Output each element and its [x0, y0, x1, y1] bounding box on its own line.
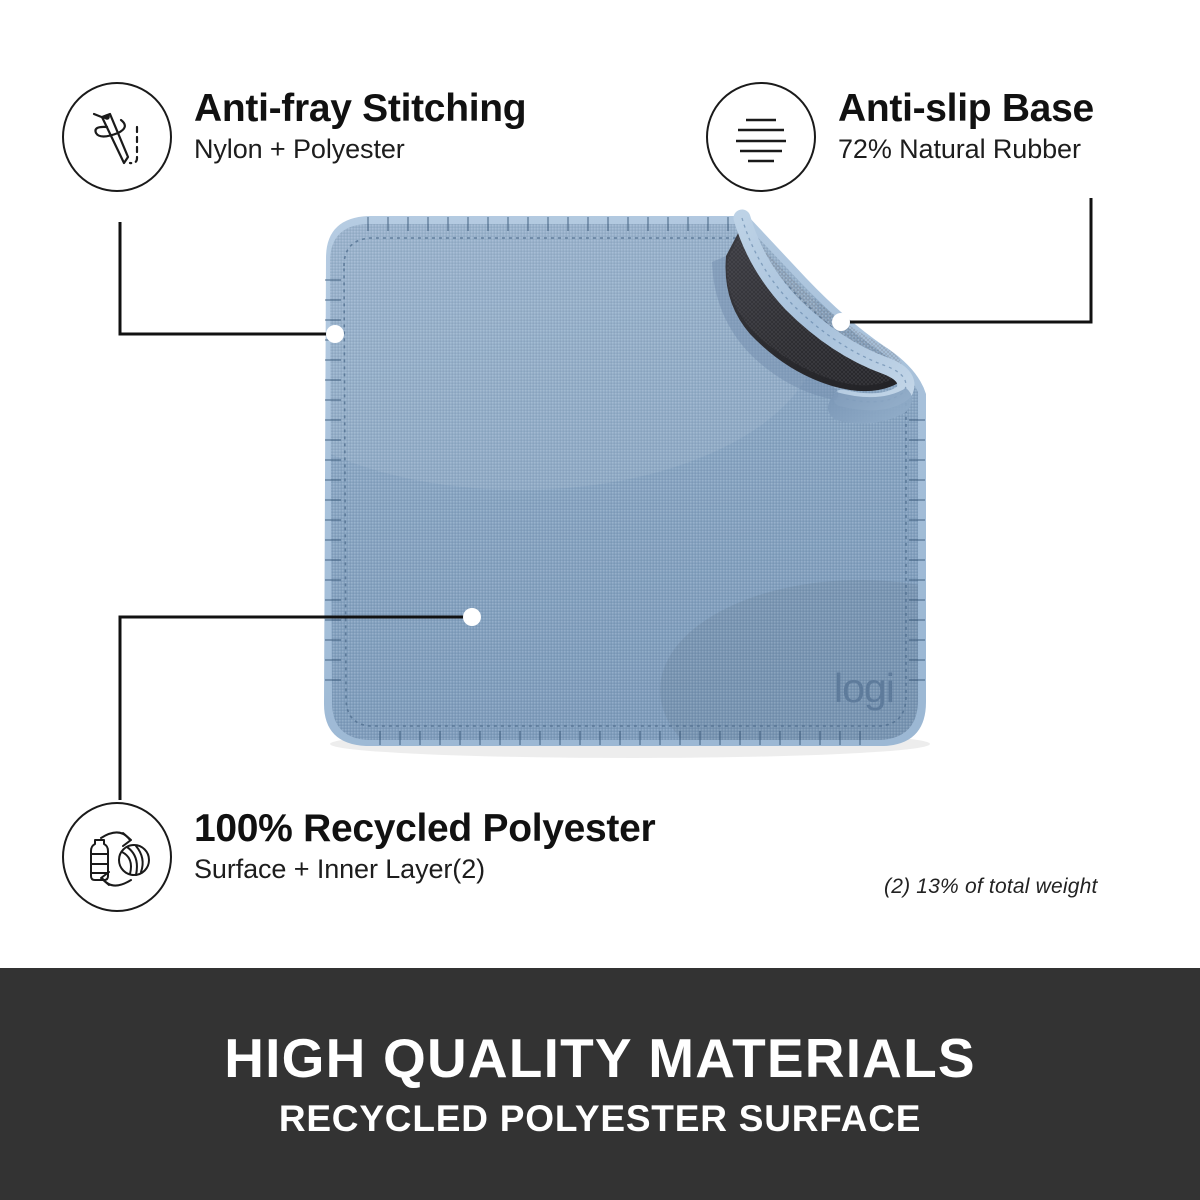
callout-dot-stitching: [326, 325, 344, 343]
infographic-stage: logi: [0, 0, 1200, 1200]
feature-title: Anti-fray Stitching: [194, 88, 526, 129]
footnote-total-weight: (2) 13% of total weight: [884, 875, 1098, 899]
banner-title: HIGH QUALITY MATERIALS: [224, 1028, 976, 1089]
feature-title: 100% Recycled Polyester: [194, 808, 655, 849]
feature-text-block: 100% Recycled Polyester Surface + Inner …: [194, 802, 655, 885]
callout-dot-recycled: [463, 608, 481, 626]
banner-subtitle: RECYCLED POLYESTER SURFACE: [279, 1098, 921, 1140]
leader-line-antislip: [841, 198, 1091, 322]
logi-logo: logi: [834, 665, 894, 711]
callout-dot-antislip: [832, 313, 850, 331]
feature-text-block: Anti-slip Base 72% Natural Rubber: [838, 82, 1094, 165]
feature-anti-fray-stitching: Anti-fray Stitching Nylon + Polyester: [62, 82, 526, 192]
needle-thread-icon-circle: [62, 82, 172, 192]
pad-surface: [220, 170, 1060, 800]
feature-subtitle: Nylon + Polyester: [194, 134, 526, 165]
bottom-banner: HIGH QUALITY MATERIALS RECYCLED POLYESTE…: [0, 968, 1200, 1200]
feature-recycled-polyester: 100% Recycled Polyester Surface + Inner …: [62, 802, 655, 912]
feature-text-block: Anti-fray Stitching Nylon + Polyester: [194, 82, 526, 165]
needle-thread-icon: [80, 100, 154, 174]
feature-subtitle: 72% Natural Rubber: [838, 134, 1094, 165]
feature-subtitle: Surface + Inner Layer(2): [194, 854, 655, 885]
feature-title: Anti-slip Base: [838, 88, 1094, 129]
horizontal-lines-grip-icon: [724, 100, 798, 174]
grip-lines-icon-circle: [706, 82, 816, 192]
feature-anti-slip-base: Anti-slip Base 72% Natural Rubber: [706, 82, 1094, 192]
leader-line-stitching: [120, 222, 335, 334]
recycling-bottle-yarn-icon: [78, 818, 156, 896]
recycling-icon-circle: [62, 802, 172, 912]
